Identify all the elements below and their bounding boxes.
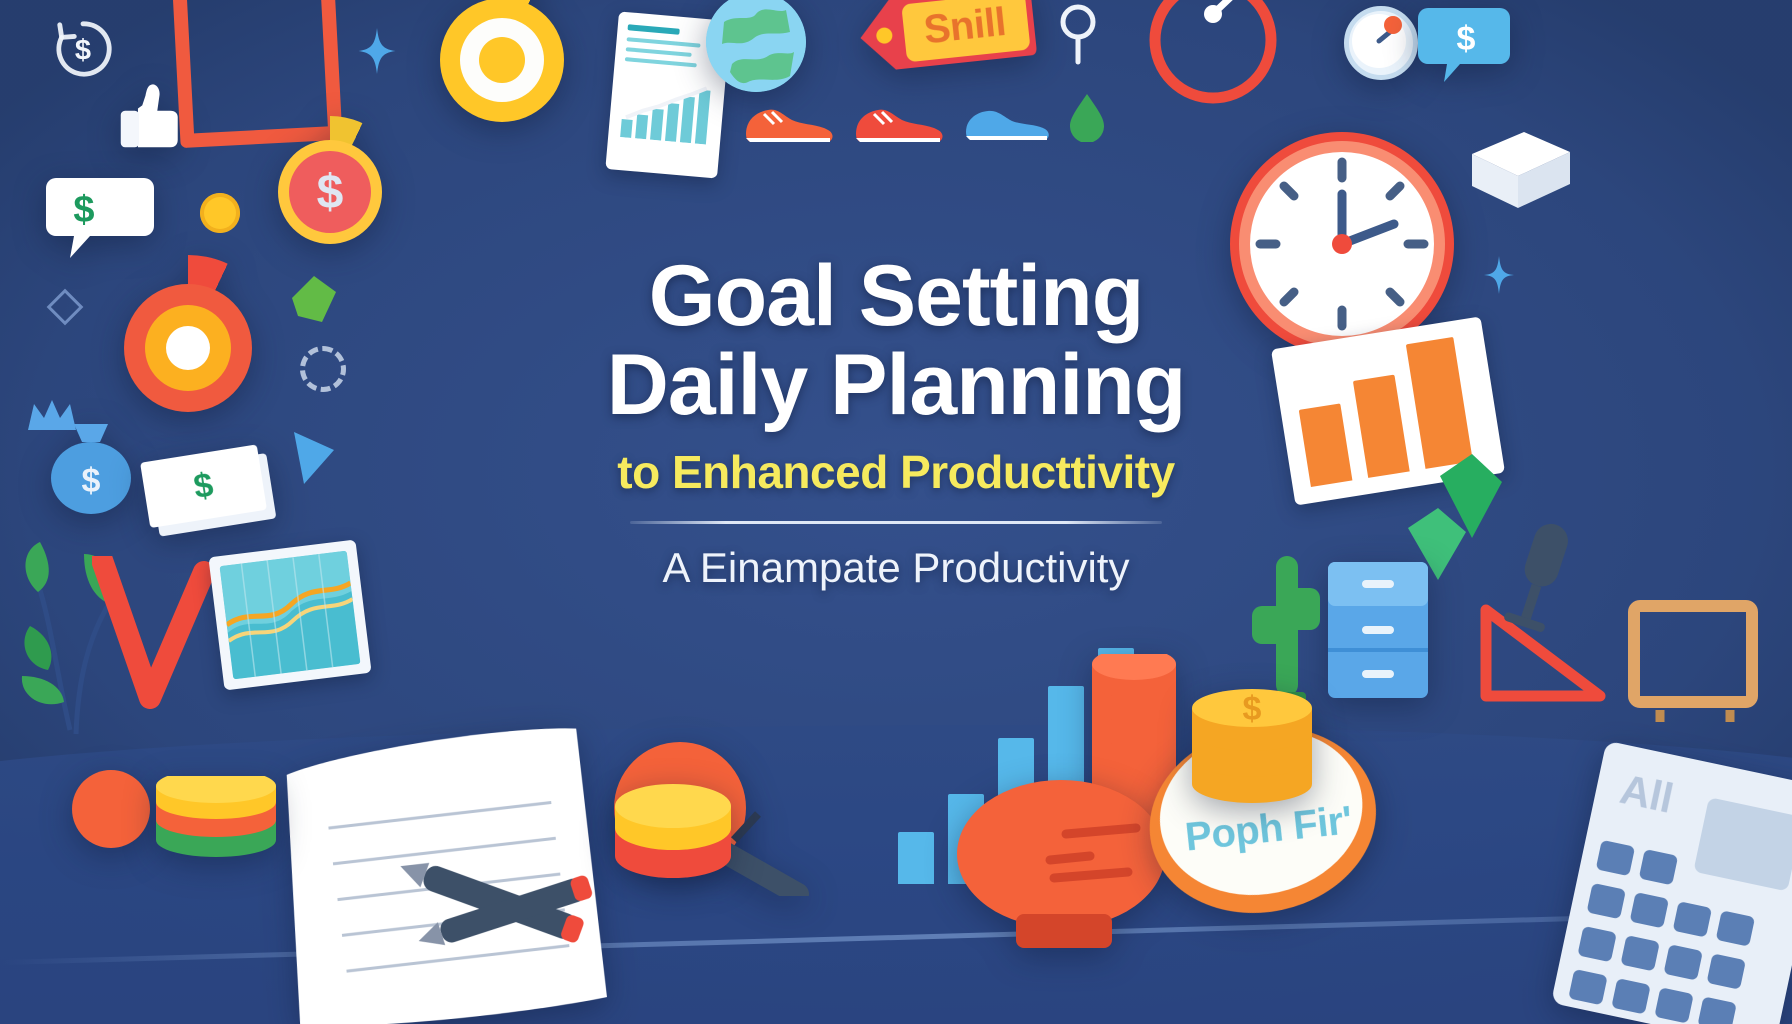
stopwatch-outline-icon (1146, 0, 1280, 104)
small-coin-icon (200, 193, 240, 233)
green-drop-icon (1068, 92, 1106, 142)
gold-coin-stack-icon: $ (1186, 672, 1318, 804)
blue-bar-1 (898, 832, 934, 884)
headline-line-2: Daily Planning (0, 341, 1792, 430)
price-tag-snill: Snill (854, 0, 1039, 77)
yellow-gear-icon (428, 0, 576, 134)
svg-text:$: $ (1243, 690, 1262, 728)
timer-gauge-icon (1344, 6, 1418, 80)
document-mini-chart (618, 75, 715, 145)
dollar-gear-coin-icon: $ (268, 130, 392, 254)
chat-bubble-dollar-icon: $ (1416, 2, 1512, 88)
dollar-speech-bubble-icon: $ (44, 170, 156, 262)
subtitle: to Enhanced Producttivity (0, 445, 1792, 499)
poster-canvas: $ $ $ (0, 0, 1792, 1024)
page-title: Goal Setting Daily Planning (0, 252, 1792, 431)
yellow-coin-stack-icon (610, 778, 736, 884)
svg-text:$: $ (1457, 20, 1476, 58)
sneaker-icon-blue (962, 102, 1052, 144)
hero-text-block: Goal Setting Daily Planning to Enhanced … (0, 252, 1792, 592)
notepad-with-pens-icon (276, 713, 616, 1024)
sparkle-icon (358, 28, 396, 74)
svg-text:$: $ (75, 35, 91, 67)
desk-surface (0, 725, 1792, 1024)
magnifier-outline-icon (1056, 2, 1104, 66)
headline-line-1: Goal Setting (649, 248, 1143, 344)
price-tag-label: Snill (922, 0, 1008, 53)
tagline: A Einampate Productivity (0, 544, 1792, 592)
globe-icon (706, 0, 806, 92)
sneaker-icon-red (850, 100, 946, 146)
coin-stack-icon-left (152, 776, 280, 860)
isometric-box-icon (1466, 126, 1576, 214)
svg-text:$: $ (73, 189, 94, 231)
refresh-dollar-icon: $ (52, 18, 114, 80)
divider (630, 521, 1162, 524)
sneaker-icon-orange (740, 100, 836, 146)
wooden-frame-icon (1620, 600, 1770, 724)
red-sphere-icon (72, 770, 150, 848)
